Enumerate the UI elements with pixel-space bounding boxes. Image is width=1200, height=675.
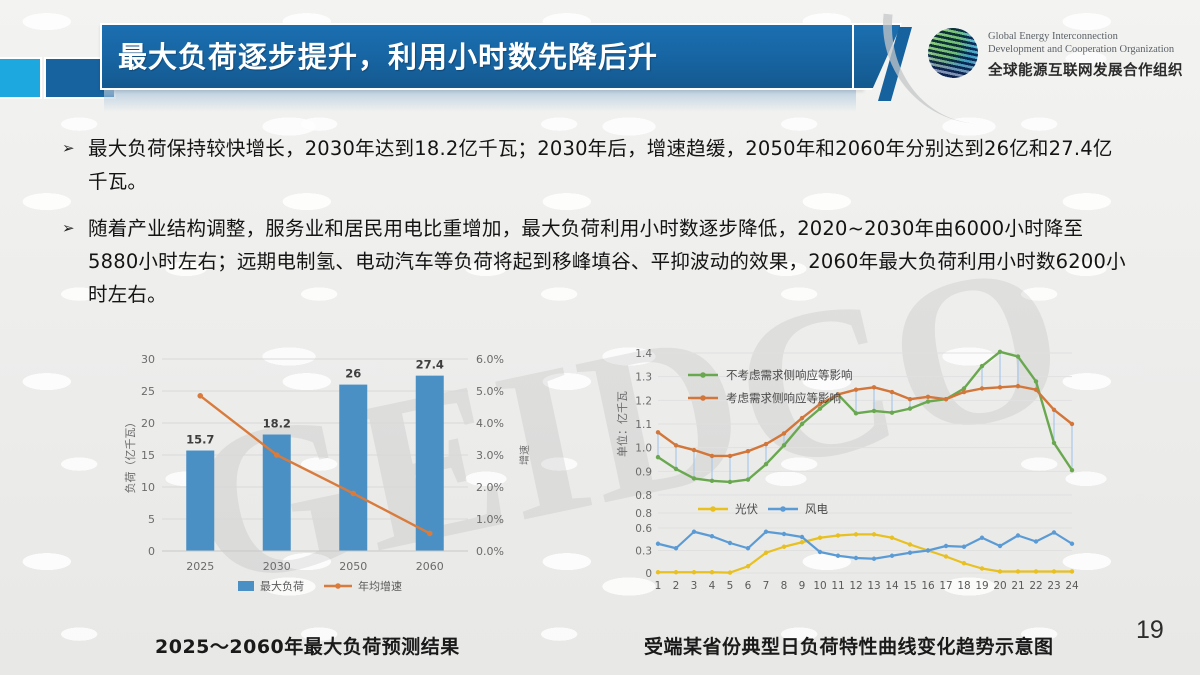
curve-wind-point [872,557,876,561]
curve-no-demand-response-point [872,409,876,413]
bar-value-label: 26 [345,367,361,381]
curve-with-demand-response-point [800,416,804,420]
y-tick-label: 1.0 [635,443,652,455]
curve-wind-point [728,541,732,545]
legend-marker-line [335,583,341,589]
y2-tick-label: 6.0% [476,353,504,366]
x-tick-label: 2030 [263,560,291,573]
curve-with-demand-response-point [728,454,732,458]
curve-solar-point [692,570,696,574]
bullet-text: 随着产业结构调整，服务业和居民用电比重增加，最大负荷利用小时数逐步降低，2020… [88,212,1132,311]
x-tick-label: 1 [655,580,662,592]
curve-solar-point [728,570,732,574]
bullet-list: ➢ 最大负荷保持较快增长，2030年达到18.2亿千瓦；2030年后，增速趋缓，… [62,132,1132,325]
curve-solar-point [1016,569,1020,573]
x-tick-label: 4 [709,580,716,592]
curve-with-demand-response-point [872,385,876,389]
y-tick-label: 1.4 [635,348,652,360]
page-title: 最大负荷逐步提升，利用小时数先降后升 [118,34,658,76]
x-tick-label: 21 [1011,580,1024,592]
curve-no-demand-response-point [1052,441,1056,445]
curve-no-demand-response-point [1016,354,1020,358]
x-tick-label: 19 [975,580,988,592]
y-axis-title: 单位：亿千瓦 [615,391,629,457]
curve-wind-point [890,554,894,558]
x-tick-label: 2050 [339,560,367,573]
curve-solar-point [890,536,894,540]
bar [339,385,367,551]
slide-canvas: GEIDCO 最大负荷逐步提升，利用小时数先降后升 Global Energy … [0,0,1200,675]
title-bar: 最大负荷逐步提升，利用小时数先降后升 [100,23,864,90]
curve-solar-point [764,551,768,555]
page-number: 19 [1136,616,1164,645]
curve-wind-point [998,544,1002,548]
curve-no-demand-response-point [764,462,768,466]
x-tick-label: 24 [1065,580,1079,592]
chart-left-caption: 2025～2060年最大负荷预测结果 [155,632,460,659]
curve-no-demand-response-point [674,467,678,471]
y2-tick-label: 5.0% [476,385,504,398]
curve-solar-point [710,570,714,574]
growth-rate-line [200,396,430,534]
curve-wind-point [1034,539,1038,543]
curve-no-demand-response-point [908,406,912,410]
chart-max-load-forecast: 0510152025300.0%1.0%2.0%3.0%4.0%5.0%6.0%… [120,345,540,610]
bullet-text: 最大负荷保持较快增长，2030年达到18.2亿千瓦；2030年后，增速趋缓，20… [88,132,1132,198]
curve-wind-point [980,536,984,540]
curve-with-demand-response-point [1034,387,1038,391]
curve-wind-point [926,548,930,552]
curve-solar-point [800,540,804,544]
y-tick-label: 0 [645,568,652,580]
curve-with-demand-response-point [980,386,984,390]
logo-english-name: Global Energy Interconnection Developmen… [988,30,1188,56]
legend-label-bar: 最大负荷 [260,579,304,593]
curve-with-demand-response-point [998,385,1002,389]
legend-label-no-dr: 不考虑需求侧响应等影响 [726,368,853,382]
curve-solar-point [1052,569,1056,573]
y-tick-label: 1.2 [635,395,652,407]
curve-wind-point [764,530,768,534]
curve-with-demand-response-point [890,390,894,394]
y-tick-label: 25 [141,385,155,398]
y-tick-label: 0.3 [635,546,652,558]
curve-no-demand-response-point [818,406,822,410]
curve-solar-point [746,564,750,568]
legend-marker-with-dr [700,395,706,401]
curve-no-demand-response-point [1034,379,1038,383]
curve-no-demand-response-point [692,476,696,480]
y2-tick-label: 0.0% [476,545,504,558]
max-load-forecast-svg: 0510152025300.0%1.0%2.0%3.0%4.0%5.0%6.0%… [120,345,540,610]
curve-wind-point [800,535,804,539]
x-tick-label: 23 [1047,580,1060,592]
x-tick-label: 13 [867,580,880,592]
curve-with-demand-response-path [658,386,1072,456]
bullet-marker-icon: ➢ [62,212,88,311]
bar [416,376,444,551]
curve-with-demand-response-point [908,397,912,401]
x-tick-label: 11 [831,580,844,592]
curve-solar-point [962,561,966,565]
curve-solar-point [872,532,876,536]
growth-rate-point [274,452,280,458]
curve-with-demand-response-point [764,442,768,446]
legend-label-with-dr: 考虑需求侧响应等影响 [726,391,841,405]
curve-solar-point [818,536,822,540]
curve-with-demand-response-point [674,443,678,447]
legend-label-wind: 风电 [805,502,828,516]
x-tick-label: 2060 [416,560,444,573]
curve-solar-point [908,542,912,546]
curve-solar-point [944,554,948,558]
curve-wind-point [692,530,696,534]
x-tick-label: 9 [799,580,806,592]
bar-value-label: 15.7 [186,433,214,447]
curve-solar-point [1070,569,1074,573]
curve-solar-point [656,570,660,574]
curve-with-demand-response-point [746,449,750,453]
slide-header: 最大负荷逐步提升，利用小时数先降后升 Global Energy Interco… [0,0,1200,120]
bullet-item: ➢ 随着产业结构调整，服务业和居民用电比重增加，最大负荷利用小时数逐步降低，20… [62,212,1132,311]
curve-wind-point [674,546,678,550]
curve-solar-point [674,570,678,574]
x-tick-label: 7 [763,580,770,592]
bar-value-label: 18.2 [263,417,291,431]
curve-no-demand-response-point [890,410,894,414]
curve-wind-point [836,554,840,558]
y-tick-label: 0 [148,545,155,558]
curve-solar-point [998,569,1002,573]
y-tick-label: 30 [141,353,155,366]
legend-marker-no-dr [700,372,706,378]
curve-wind-point [782,532,786,536]
curve-wind-point [1016,533,1020,537]
curve-wind-point [1052,530,1056,534]
curve-wind-point [944,544,948,548]
y-tick-label: 20 [141,417,155,430]
legend-label-line: 年均增速 [358,579,402,593]
curve-with-demand-response-point [1052,408,1056,412]
x-tick-label: 6 [745,580,752,592]
globe-icon [928,28,978,78]
curve-no-demand-response-point [710,479,714,483]
y-tick-label: 15 [141,449,155,462]
curve-with-demand-response-point [656,430,660,434]
x-tick-label: 20 [993,580,1006,592]
curve-with-demand-response-point [926,395,930,399]
curve-with-demand-response-point [692,448,696,452]
y2-tick-label: 4.0% [476,417,504,430]
x-tick-label: 14 [885,580,899,592]
logo-chinese-name: 全球能源互联网发展合作组织 [988,59,1183,80]
curve-no-demand-response-point [980,364,984,368]
legend-swatch-bar [238,581,254,591]
bar [263,435,291,551]
y-tick-label: 10 [141,481,155,494]
curve-no-demand-response-path [658,352,1072,482]
curve-solar-point [836,533,840,537]
bar [186,451,214,551]
legend-label-solar: 光伏 [735,502,758,516]
y-tick-label: 0.6 [635,523,652,535]
logo-english-line1: Global Energy Interconnection [988,30,1188,43]
bar-value-label: 27.4 [416,358,444,372]
y-tick-label: 1.3 [635,372,652,384]
x-tick-label: 17 [939,580,952,592]
curve-wind-point [962,545,966,549]
curve-no-demand-response-point [1070,468,1074,472]
curve-no-demand-response-point [782,443,786,447]
x-tick-label: 3 [691,580,698,592]
x-tick-label: 8 [781,580,788,592]
y-tick-label: 5 [148,513,155,526]
logo-english-line2: Development and Cooperation Organization [988,43,1188,56]
y-tick-label: 0.8 [635,490,652,502]
y-tick-label: 0.9 [635,466,652,478]
bullet-item: ➢ 最大负荷保持较快增长，2030年达到18.2亿千瓦；2030年后，增速趋缓，… [62,132,1132,198]
x-tick-label: 15 [903,580,916,592]
curve-wind-point [818,550,822,554]
curve-no-demand-response-point [656,455,660,459]
x-tick-label: 2025 [186,560,214,573]
curve-with-demand-response-point [944,397,948,401]
curve-no-demand-response-point [746,477,750,481]
curve-solar-point [782,545,786,549]
growth-rate-point [350,491,356,497]
curve-wind-point [656,542,660,546]
curve-wind-point [710,534,714,538]
x-tick-label: 18 [957,580,970,592]
curve-solar-point [1034,569,1038,573]
bullet-marker-icon: ➢ [62,132,88,198]
curve-no-demand-response-point [998,350,1002,354]
curve-wind-point [908,551,912,555]
x-tick-label: 12 [849,580,862,592]
curve-no-demand-response-point [728,480,732,484]
curve-no-demand-response-point [926,399,930,403]
legend-marker-solar [710,506,716,512]
x-tick-label: 5 [727,580,734,592]
chart-right-caption: 受端某省份典型日负荷特性曲线变化趋势示意图 [644,632,1054,659]
x-tick-label: 10 [813,580,826,592]
growth-rate-point [427,531,433,537]
y2-axis-title: 增速 [518,445,531,465]
curve-with-demand-response-point [962,390,966,394]
y-tick-label: 0.8 [635,508,652,520]
curve-solar-point [854,532,858,536]
curve-wind-point [854,556,858,560]
curve-wind-point [746,546,750,550]
y2-tick-label: 3.0% [476,449,504,462]
y-axis-title: 负荷（亿千瓦） [123,417,137,494]
decor-square-cyan [0,57,42,99]
curve-wind-path [658,532,1072,559]
curve-no-demand-response-point [800,422,804,426]
curve-with-demand-response-point [782,431,786,435]
y-tick-label: 1.1 [635,419,652,431]
organization-logo: Global Energy Interconnection Developmen… [928,22,1190,84]
daily-load-curve-svg: 0.80.91.01.11.21.31.400.30.60.8123456789… [610,345,1090,610]
curve-with-demand-response-point [1016,384,1020,388]
curve-wind-point [1070,542,1074,546]
curve-with-demand-response-point [854,387,858,391]
chart-daily-load-curve: 0.80.91.01.11.21.31.400.30.60.8123456789… [610,345,1090,610]
x-tick-label: 16 [921,580,935,592]
x-tick-label: 22 [1029,580,1042,592]
curve-no-demand-response-point [854,411,858,415]
legend-marker-wind [780,506,786,512]
curve-with-demand-response-point [710,454,714,458]
curve-solar-point [980,566,984,570]
growth-rate-point [197,393,203,399]
y2-tick-label: 1.0% [476,513,504,526]
y2-tick-label: 2.0% [476,481,504,494]
x-tick-label: 2 [673,580,680,592]
curve-with-demand-response-point [1070,422,1074,426]
